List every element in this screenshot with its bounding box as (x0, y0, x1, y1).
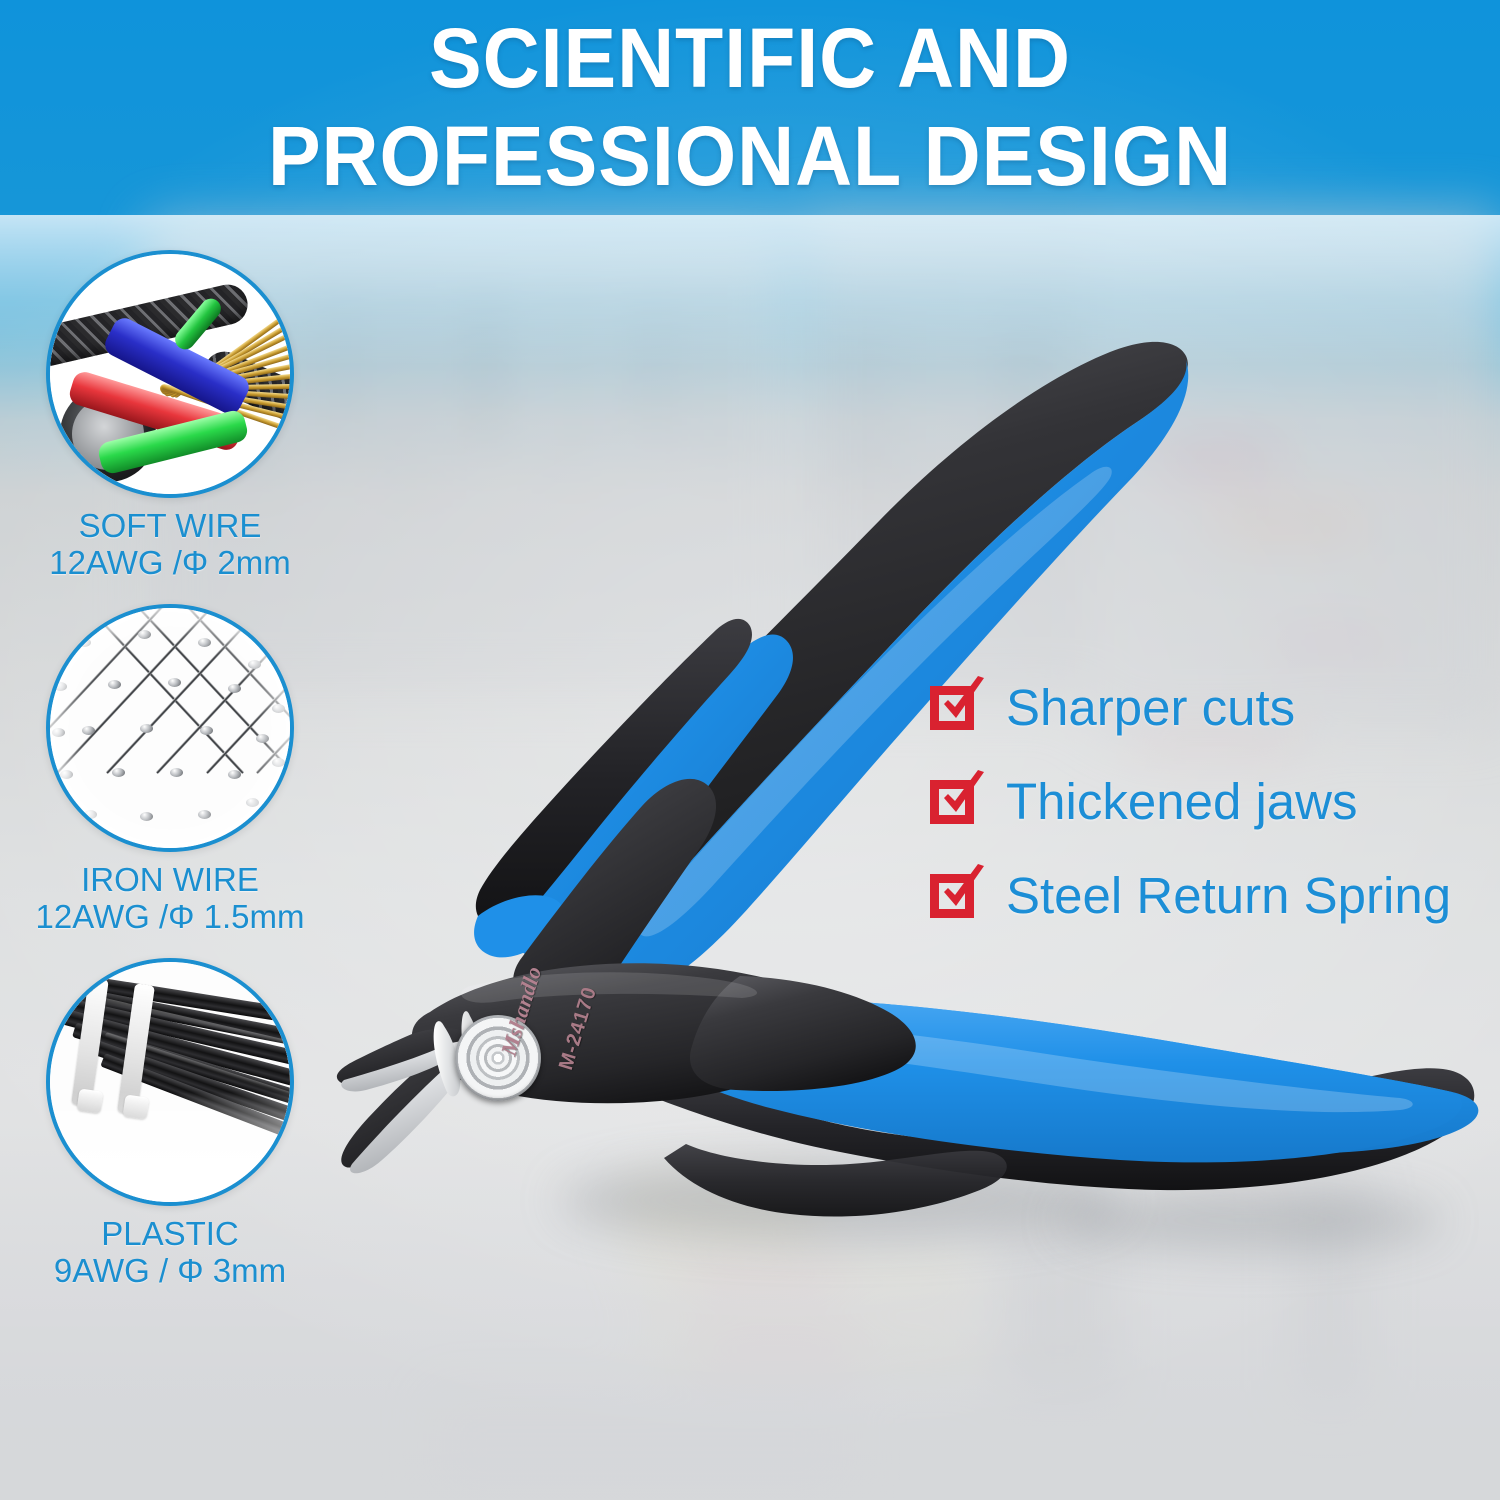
feature-row-sharper-cuts: Sharper cuts (930, 668, 1490, 746)
checkbox-checked-icon (930, 776, 980, 826)
iron-wire-label-line1: IRON WIRE (81, 861, 259, 898)
product-feature-banner: SCIENTIFIC AND PROFESSIONAL DESIGN (0, 0, 1500, 1500)
plastic-caption: PLASTIC 9AWG / Φ 3mm (0, 1216, 340, 1290)
material-item-iron-wire: IRON WIRE 12AWG /Φ 1.5mm (0, 604, 340, 936)
material-item-plastic: PLASTIC 9AWG / Φ 3mm (0, 958, 340, 1290)
soft-wire-label-line2: 12AWG /Φ 2mm (0, 545, 340, 582)
feature-checklist: Sharper cuts Thickened jaws Steel Return… (930, 668, 1490, 950)
feature-row-steel-return-spring: Steel Return Spring (930, 856, 1490, 934)
soft-wire-caption: SOFT WIRE 12AWG /Φ 2mm (0, 508, 340, 582)
check-mark-icon (934, 676, 990, 732)
iron-wire-label-line2: 12AWG /Φ 1.5mm (0, 899, 340, 936)
soft-wire-label-line1: SOFT WIRE (79, 507, 262, 544)
stranded-copper-wire-icon (50, 254, 290, 494)
material-capability-list: SOFT WIRE 12AWG /Φ 2mm (0, 250, 340, 1290)
check-mark-icon (934, 864, 990, 920)
feature-label: Sharper cuts (1006, 682, 1295, 733)
soft-wire-thumbnail (46, 250, 294, 498)
checkbox-checked-icon (930, 870, 980, 920)
iron-wire-caption: IRON WIRE 12AWG /Φ 1.5mm (0, 862, 340, 936)
plastic-label-line2: 9AWG / Φ 3mm (0, 1253, 340, 1290)
iron-wire-thumbnail (46, 604, 294, 852)
checkbox-checked-icon (930, 682, 980, 732)
wire-mesh-icon (50, 608, 290, 848)
cable-ties-icon (50, 962, 290, 1202)
material-item-soft-wire: SOFT WIRE 12AWG /Φ 2mm (0, 250, 340, 582)
feature-label: Thickened jaws (1006, 776, 1358, 827)
feature-row-thickened-jaws: Thickened jaws (930, 762, 1490, 840)
plastic-thumbnail (46, 958, 294, 1206)
plastic-label-line1: PLASTIC (101, 1215, 239, 1252)
check-mark-icon (934, 770, 990, 826)
feature-label: Steel Return Spring (1006, 870, 1451, 921)
lower-handle-rubber-waist (664, 1144, 1007, 1217)
